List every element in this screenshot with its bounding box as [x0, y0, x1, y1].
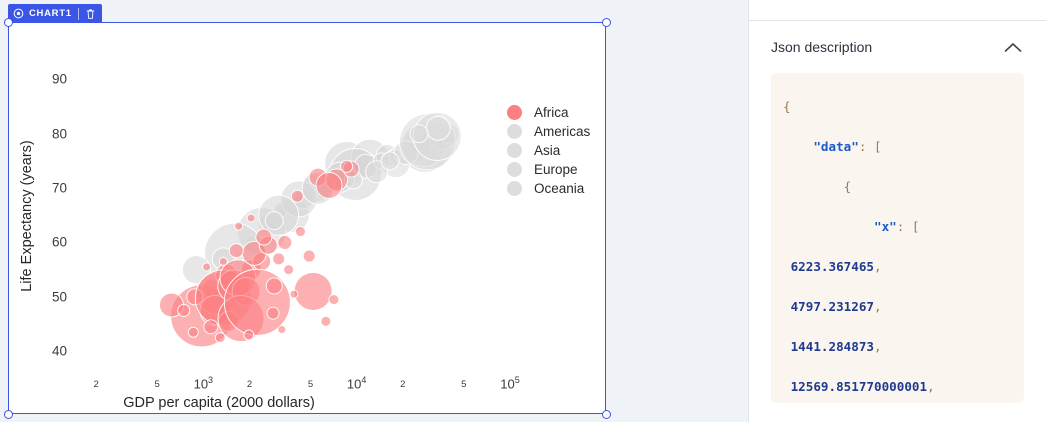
- badge-divider: [78, 8, 79, 20]
- y-axis-label: Life Expectancy (years): [19, 106, 35, 326]
- bubble: [215, 333, 225, 343]
- y-tick-label: 80: [33, 126, 67, 141]
- legend-item-europe[interactable]: Europe: [507, 160, 590, 179]
- chart-selection-badge[interactable]: CHART1: [8, 4, 102, 23]
- bubble: [229, 244, 243, 258]
- bubble: [235, 222, 243, 230]
- resize-handle-bottom-left[interactable]: [4, 410, 13, 419]
- bubble: [291, 190, 303, 202]
- code-line: "data": [: [783, 127, 1012, 167]
- bubble: [290, 290, 298, 298]
- bubble: [188, 327, 198, 337]
- legend-label: Africa: [534, 105, 569, 120]
- y-tick-label: 70: [33, 181, 67, 196]
- x-tick-label: 103: [194, 375, 213, 391]
- bubble: [295, 227, 305, 237]
- x-tick-label: 2: [247, 379, 252, 390]
- legend-swatch: [507, 124, 522, 139]
- bubble: [267, 307, 279, 319]
- chevron-up-icon[interactable]: [1002, 36, 1024, 58]
- bubble: [426, 116, 450, 140]
- chart-legend: AfricaAmericasAsiaEuropeOceania: [507, 103, 590, 198]
- bubble-layer: [9, 23, 607, 415]
- bubble: [278, 325, 286, 333]
- resize-handle-top-right[interactable]: [602, 18, 611, 27]
- bubble: [256, 229, 272, 245]
- json-code-block[interactable]: { "data": [ { "x": [ 6223.367465, 4797.2…: [771, 73, 1024, 403]
- y-tick-label: 50: [33, 289, 67, 304]
- y-tick-label: 60: [33, 235, 67, 250]
- resize-handle-bottom-right[interactable]: [602, 410, 611, 419]
- legend-item-africa[interactable]: Africa: [507, 103, 590, 122]
- bubble: [316, 172, 342, 198]
- legend-label: Americas: [534, 124, 590, 139]
- code-line: 1441.284873,: [783, 327, 1012, 367]
- chart-frame[interactable]: 405060708090 251032510425105 Life Expect…: [8, 22, 606, 414]
- x-tick-label: 2: [94, 379, 99, 390]
- legend-item-asia[interactable]: Asia: [507, 141, 590, 160]
- code-line: 12569.851770000001,: [783, 367, 1012, 403]
- bubble: [278, 235, 292, 249]
- legend-label: Europe: [534, 162, 578, 177]
- y-tick-label: 90: [33, 72, 67, 87]
- bubble: [203, 263, 211, 271]
- series-africa: [160, 160, 360, 347]
- legend-item-oceania[interactable]: Oceania: [507, 179, 590, 198]
- legend-label: Asia: [534, 143, 560, 158]
- code-line: 4797.231267,: [783, 287, 1012, 327]
- legend-item-americas[interactable]: Americas: [507, 122, 590, 141]
- bubble: [266, 278, 282, 294]
- x-tick-label: 105: [500, 375, 519, 391]
- bubble: [178, 304, 190, 316]
- json-description-panel: Json description { "data": [ { "x": [ 62…: [748, 0, 1046, 422]
- panel-title: Json description: [771, 39, 872, 55]
- target-icon: [13, 8, 24, 19]
- code-line: "x": [: [783, 207, 1012, 247]
- bubble: [219, 258, 227, 266]
- chart-badge-label: CHART1: [29, 8, 72, 19]
- code-line: 6223.367465,: [783, 247, 1012, 287]
- panel-top-strip: [749, 0, 1046, 21]
- bubble: [294, 272, 332, 310]
- bubble: [381, 152, 399, 170]
- bubble: [244, 330, 254, 340]
- x-tick-label: 5: [461, 379, 466, 390]
- bubble: [341, 160, 353, 172]
- bubble: [284, 265, 294, 275]
- x-tick-label: 5: [155, 379, 160, 390]
- screenshot-root: CHART1 405060708090 251032510425105 Life…: [0, 0, 1046, 422]
- bubble: [321, 316, 331, 326]
- chart-canvas-area: CHART1 405060708090 251032510425105 Life…: [0, 0, 748, 422]
- bubble: [410, 125, 428, 143]
- bubble: [329, 295, 339, 305]
- bubble: [204, 320, 218, 334]
- panel-header: Json description: [749, 21, 1046, 73]
- x-tick-label: 5: [308, 379, 313, 390]
- code-line: {: [783, 87, 1012, 127]
- legend-swatch: [507, 105, 522, 120]
- bubble: [303, 250, 315, 262]
- bubble: [273, 253, 285, 265]
- legend-swatch: [507, 162, 522, 177]
- legend-label: Oceania: [534, 181, 584, 196]
- code-line: {: [783, 167, 1012, 207]
- scatter-plot: 405060708090 251032510425105 Life Expect…: [9, 23, 605, 413]
- trash-icon[interactable]: [85, 8, 96, 20]
- bubble: [247, 214, 255, 222]
- legend-swatch: [507, 143, 522, 158]
- bubble: [265, 212, 283, 230]
- x-tick-label: 104: [347, 375, 366, 391]
- x-axis-label: GDP per capita (2000 dollars): [9, 395, 429, 411]
- x-tick-label: 2: [400, 379, 405, 390]
- resize-handle-top-left[interactable]: [4, 18, 13, 27]
- y-tick-label: 40: [33, 344, 67, 359]
- legend-swatch: [507, 181, 522, 196]
